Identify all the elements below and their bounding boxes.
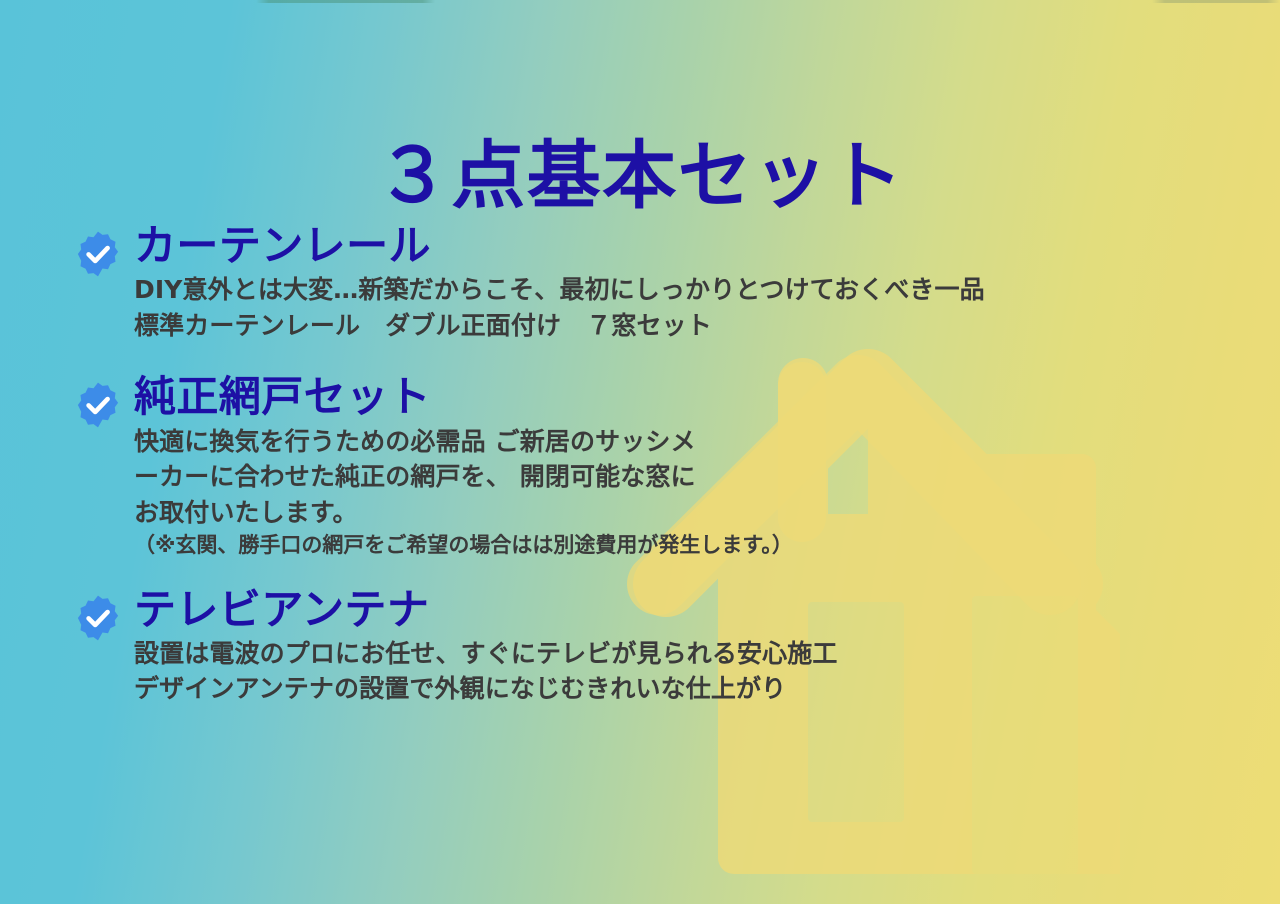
feature-title: カーテンレール bbox=[134, 222, 1234, 270]
feature-description: DIY意外とは大変…新築だからこそ、最初にしっかりとつけておくべき一品 標準カー… bbox=[134, 272, 1234, 343]
verified-check-icon bbox=[74, 381, 122, 429]
feature-line: 快適に換気を行うための必需品 ご新居のサッシメ bbox=[134, 424, 1234, 460]
poster-canvas: ３点基本セット カーテンレール DIY意外とは大変…新築だからこそ、最初にしっか… bbox=[0, 0, 1280, 904]
feature-line: 設置は電波のプロにお任せ、すぐにテレビが見られる安心施工 bbox=[134, 636, 1234, 672]
feature-line: DIY意外とは大変…新築だからこそ、最初にしっかりとつけておくべき一品 bbox=[134, 272, 1234, 308]
feature-item-curtain-rail: カーテンレール DIY意外とは大変…新築だからこそ、最初にしっかりとつけておくべ… bbox=[74, 222, 1234, 343]
feature-title: テレビアンテナ bbox=[134, 586, 1234, 634]
feature-line: ーカーに合わせた純正の網戸を、 開閉可能な窓に bbox=[134, 459, 1234, 495]
feature-line: 標準カーテンレール ダブル正面付け ７窓セット bbox=[134, 308, 1234, 344]
verified-check-icon bbox=[74, 230, 122, 278]
poster-content: ３点基本セット カーテンレール DIY意外とは大変…新築だからこそ、最初にしっか… bbox=[0, 0, 1280, 904]
page-title: ３点基本セット bbox=[0, 136, 1280, 217]
feature-item-screen-door: 純正網戸セット 快適に換気を行うための必需品 ご新居のサッシメ ーカーに合わせた… bbox=[74, 373, 1234, 561]
feature-item-tv-antenna: テレビアンテナ 設置は電波のプロにお任せ、すぐにテレビが見られる安心施工 デザイ… bbox=[74, 586, 1234, 707]
feature-note: （※玄関、勝手口の網戸をご希望の場合はは別途費用が発生します。） bbox=[134, 530, 1234, 562]
feature-description: 設置は電波のプロにお任せ、すぐにテレビが見られる安心施工 デザインアンテナの設置… bbox=[134, 636, 1234, 707]
feature-title: 純正網戸セット bbox=[134, 373, 1234, 421]
feature-list: カーテンレール DIY意外とは大変…新築だからこそ、最初にしっかりとつけておくべ… bbox=[74, 222, 1234, 707]
feature-line: デザインアンテナの設置で外観になじむきれいな仕上がり bbox=[134, 671, 1234, 707]
feature-description: 快適に換気を行うための必需品 ご新居のサッシメ ーカーに合わせた純正の網戸を、 … bbox=[134, 424, 1234, 562]
verified-check-icon bbox=[74, 594, 122, 642]
feature-line: お取付いたします。 bbox=[134, 495, 1234, 531]
